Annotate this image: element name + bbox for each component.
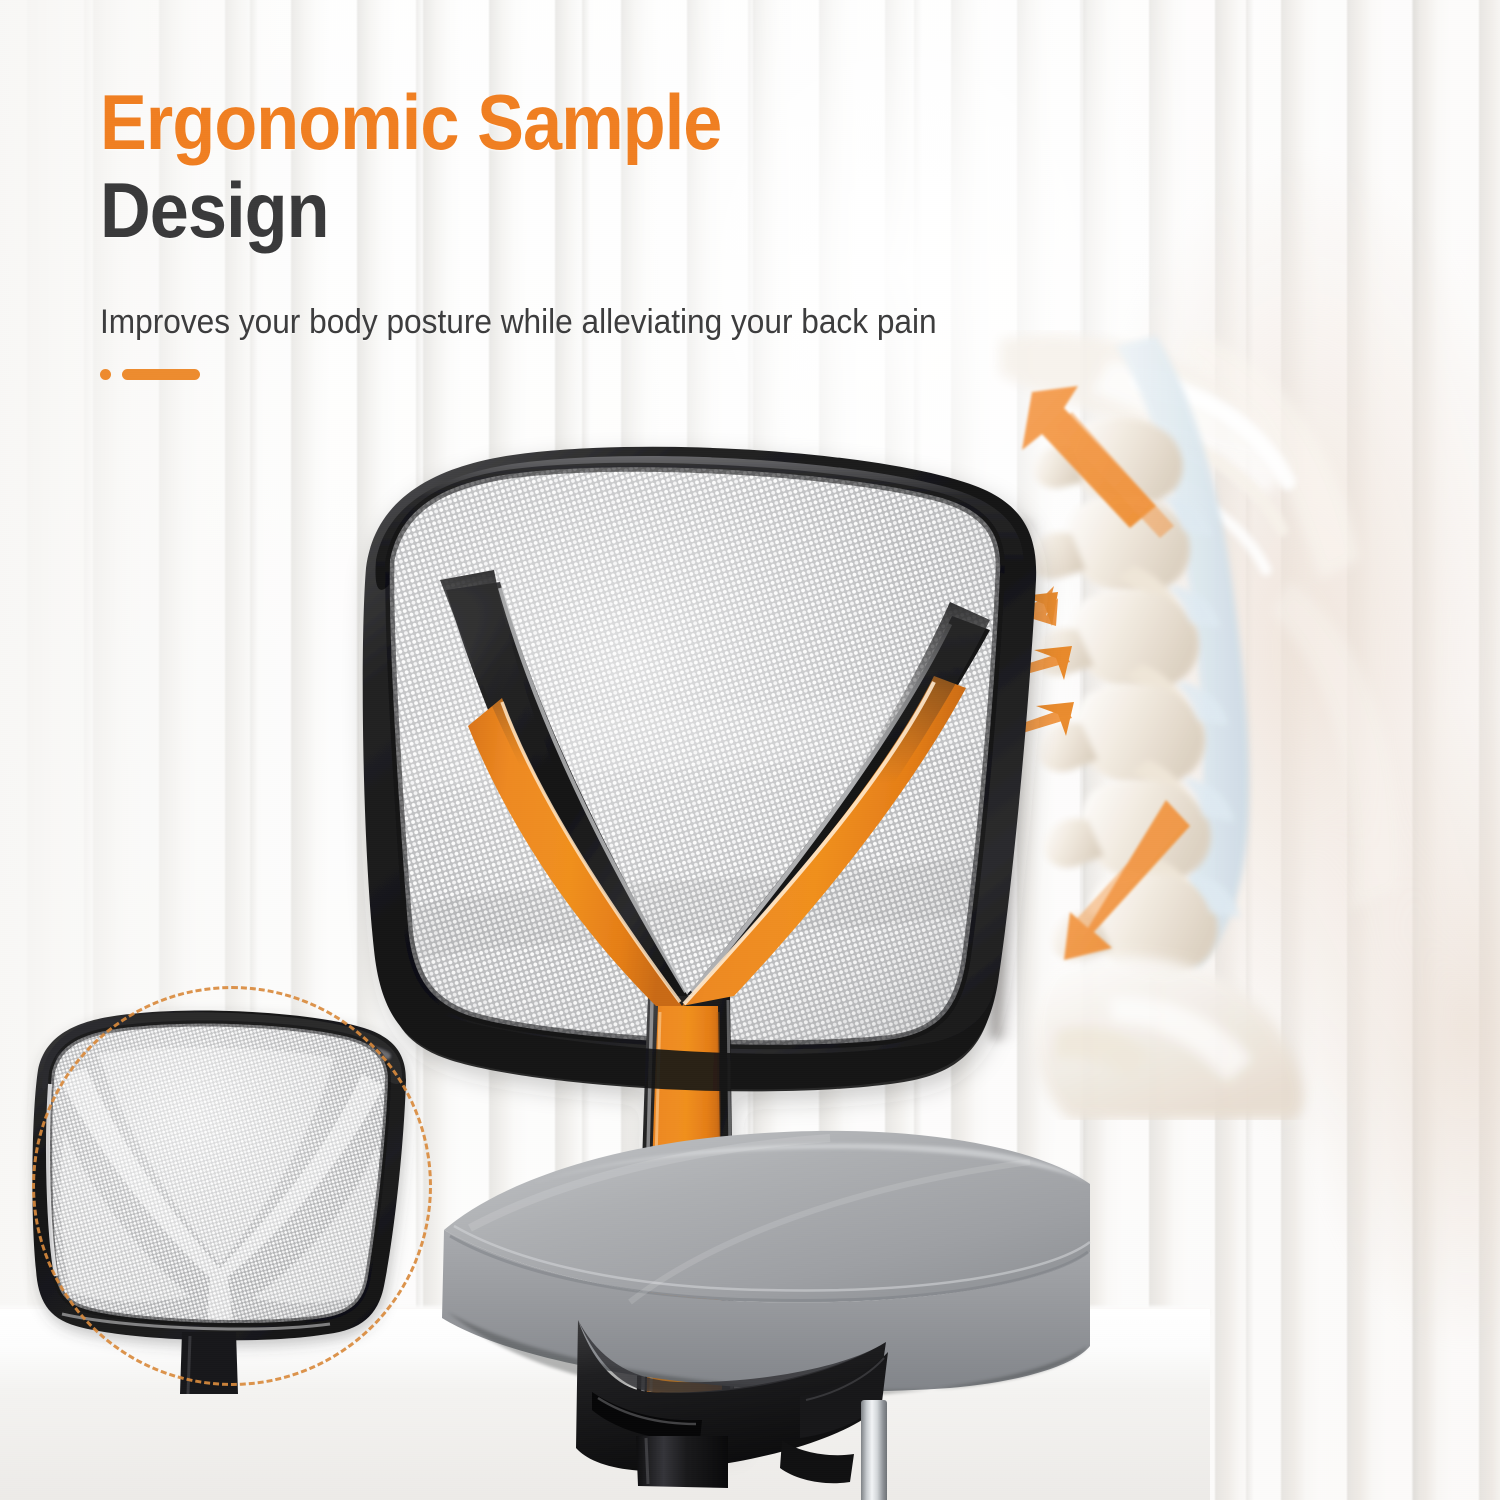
backrest-front-view-detail [32,986,432,1386]
gas-lift-cylinder [861,1400,887,1500]
gas-cylinder-collar [780,1440,854,1483]
seat-assembly [442,1131,1090,1398]
accent-dot-icon [100,369,111,380]
inset-dashed-circle [32,986,432,1386]
headline-line-1: Ergonomic Sample [100,78,1000,166]
subtitle-text: Improves your body posture while allevia… [100,300,937,344]
headline-block: Ergonomic Sample Design [100,78,1100,254]
backrest-support-post [636,1436,728,1488]
headline-line-2: Design [100,166,1000,254]
accent-bar-icon [122,369,200,380]
product-infographic-canvas: Ergonomic Sample Design Improves your bo… [0,0,1500,1500]
